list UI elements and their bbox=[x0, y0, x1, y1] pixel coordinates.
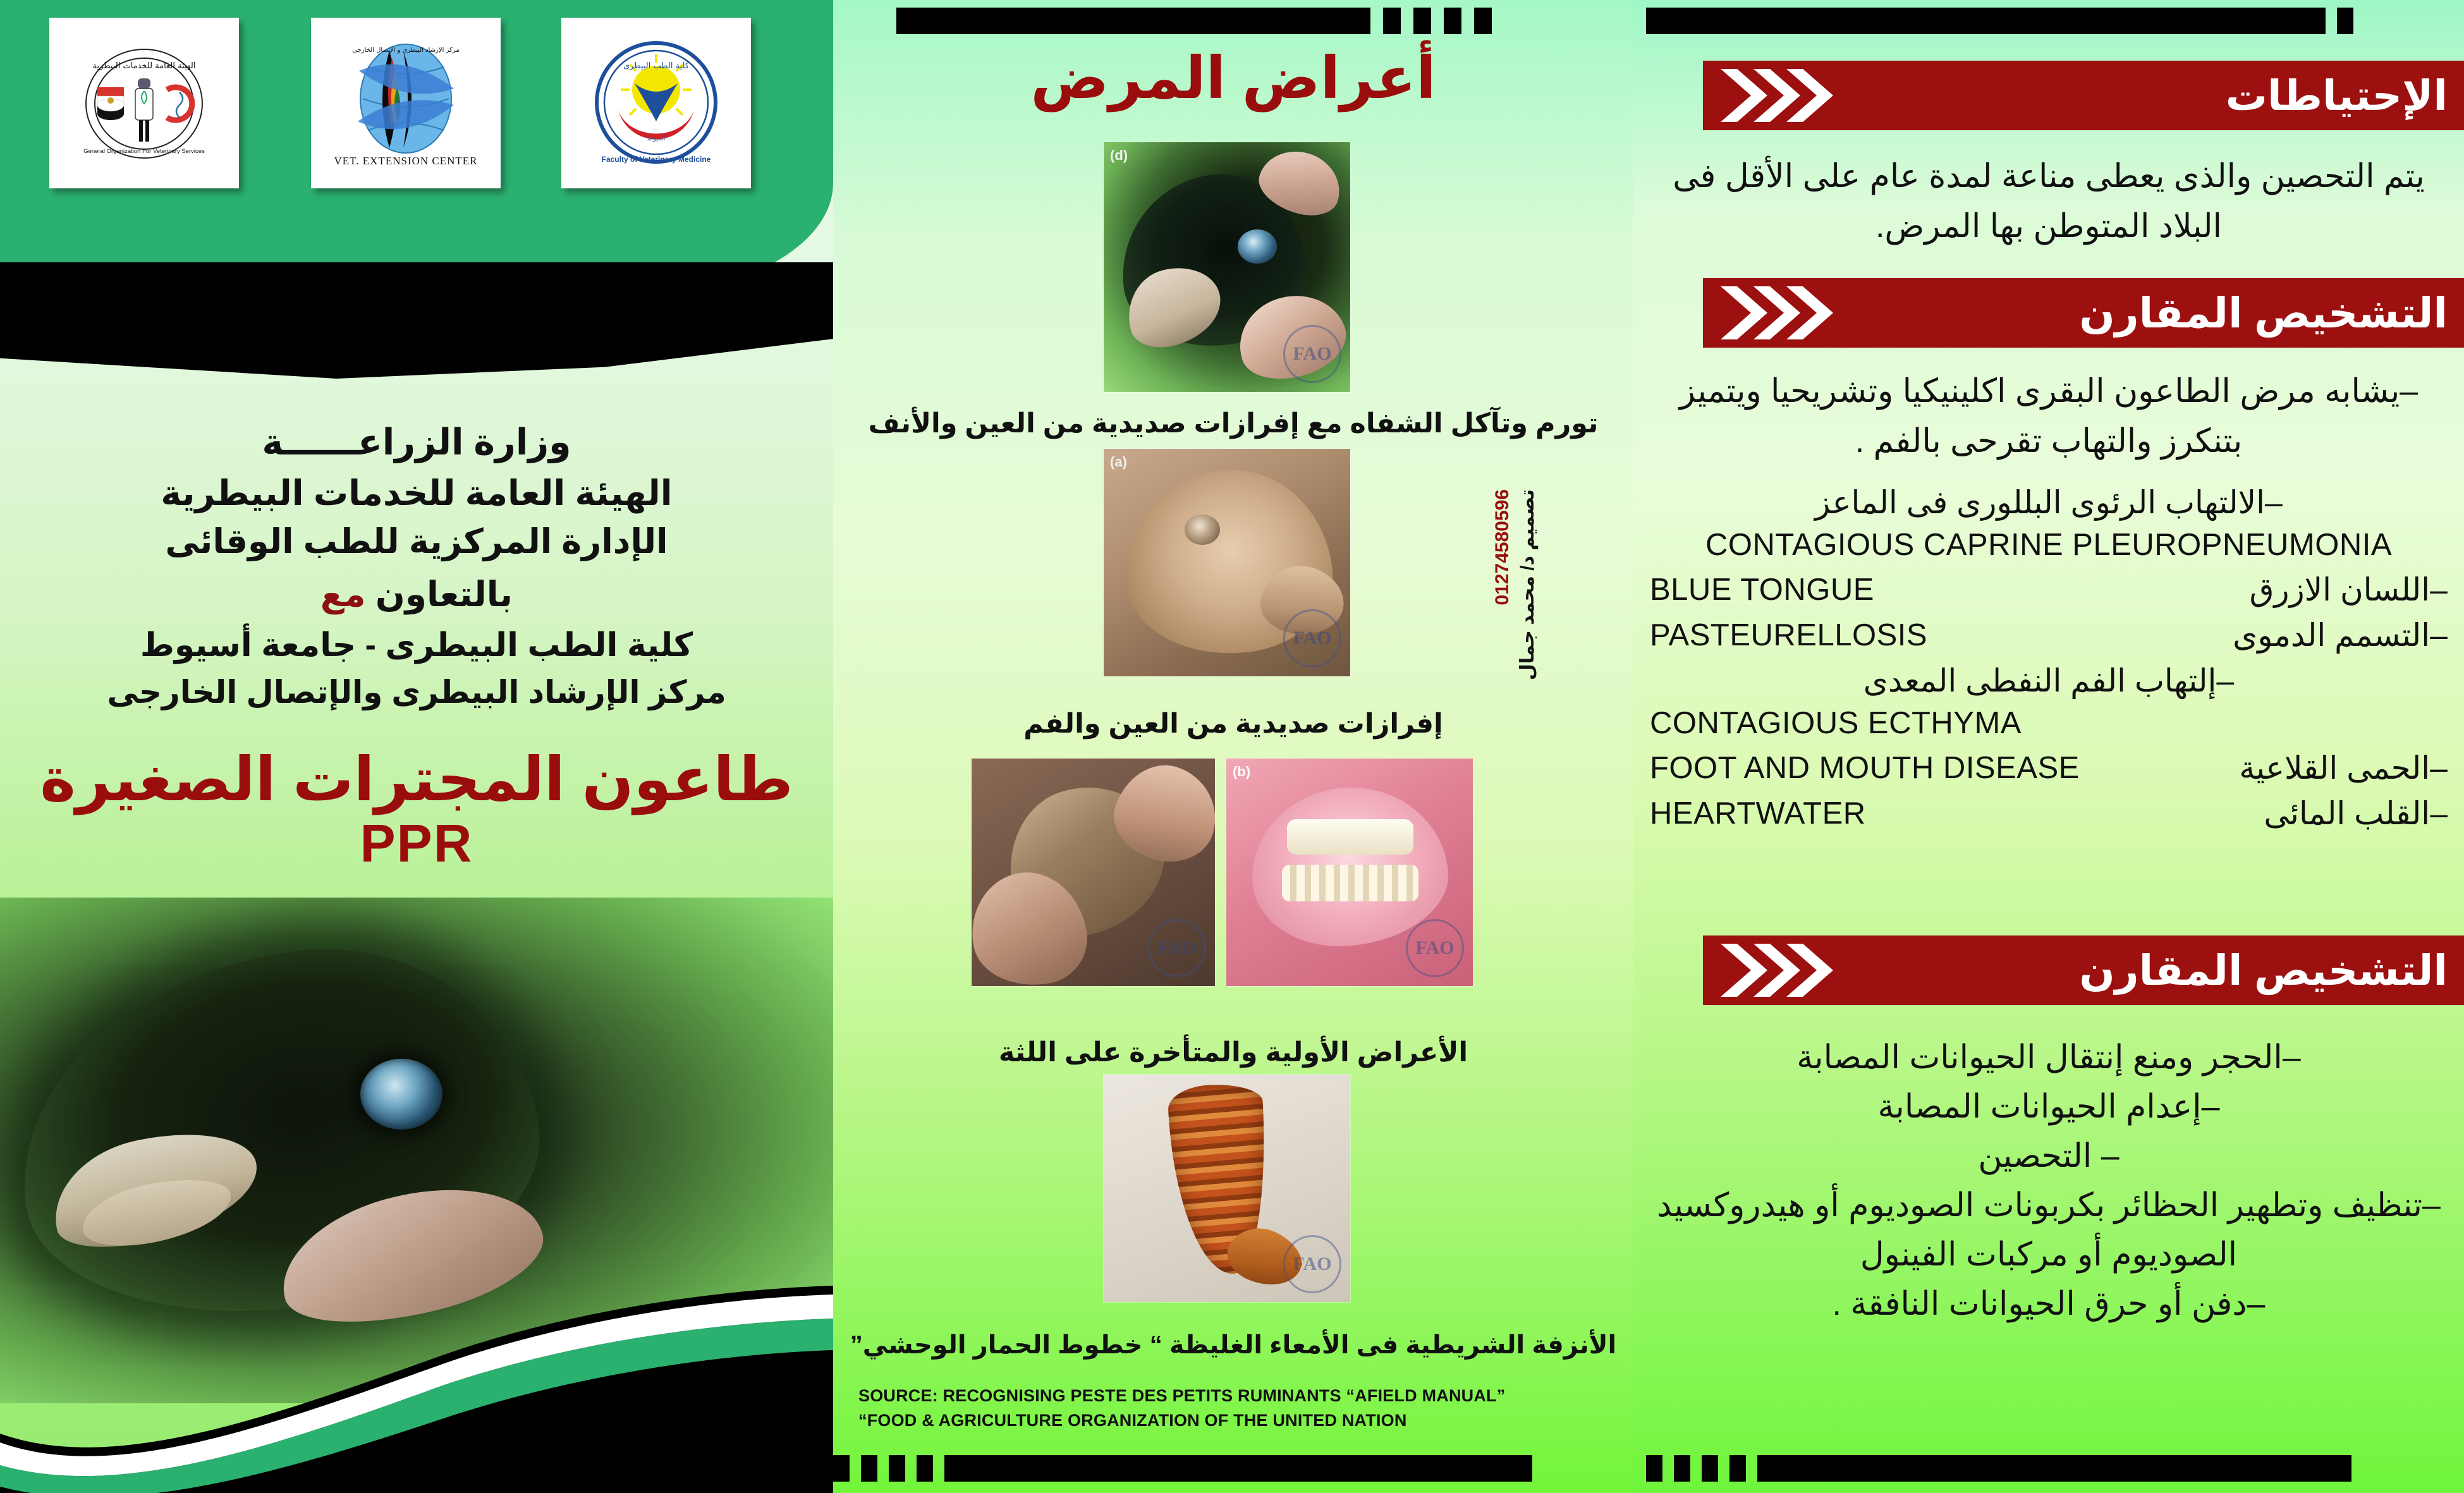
designer-credit: 01274580596 تصميم د/ محمد جمال bbox=[1454, 480, 1542, 689]
photo-2-wrapper: (a) FAO bbox=[1104, 449, 1350, 676]
disease-english: HEARTWATER bbox=[1650, 796, 1866, 831]
section-comparative-diagnosis: التشخيص المقارن –يشابه مرض الطاعون البقر… bbox=[1633, 278, 2464, 832]
cooperation-suffix: مع bbox=[320, 575, 366, 614]
disease-english: FOOT AND MOUTH DISEASE bbox=[1650, 750, 2080, 786]
partner-extension-center: مركز الإرشاد البيطرى والإتصال الخارجى bbox=[0, 669, 833, 716]
disease-row: –الالتهاب الرئوى البللورى فى الماعز CONT… bbox=[1633, 484, 2464, 563]
svg-text:أسيوط: أسيوط bbox=[647, 134, 666, 142]
svg-text:مركز الإرشاد البيطرى و الإتصال: مركز الإرشاد البيطرى و الإتصال الخارجى bbox=[352, 47, 459, 54]
disease-arabic: –اللسان الازرق bbox=[2250, 571, 2448, 608]
caption-photo-4: الأنزفة الشريطية فى الأمعاء الغليظة “ خط… bbox=[833, 1331, 1633, 1360]
photo-swollen-lips: (d) FAO bbox=[1104, 142, 1350, 392]
photo-tag: (d) bbox=[1110, 147, 1128, 164]
photo-4-wrapper: FAO bbox=[1104, 1075, 1350, 1302]
disease-arabic: –الحمى القلاعية bbox=[2239, 750, 2448, 786]
bar-square bbox=[861, 1455, 877, 1482]
right-column: الإحتياطات يتم التحصين والذى يعطى مناعة … bbox=[1633, 0, 2464, 1493]
title-english: PPR bbox=[0, 814, 833, 872]
bar-long bbox=[1757, 1455, 2351, 1482]
section-control-measures: التشخيص المقارن –الحجر ومنع إنتقال الحيو… bbox=[1633, 935, 2464, 1329]
svg-text:General Organization For Veter: General Organization For Veterinary Serv… bbox=[83, 148, 205, 155]
source-line-1: SOURCE: RECOGNISING PESTE DES PETITS RUM… bbox=[858, 1384, 1585, 1408]
caption-photo-1: تورم وتآكل الشفاه مع إفرازات صديدية من ا… bbox=[833, 408, 1633, 439]
chevron-triple-icon bbox=[1714, 66, 1834, 125]
source-line-2: “FOOD & AGRICULTURE ORGANIZATION OF THE … bbox=[858, 1408, 1585, 1432]
center-column: أعراض المرض (d) FAO تورم وتآكل الشفاه مع… bbox=[833, 0, 1633, 1493]
photo-1-wrapper: (d) FAO bbox=[1104, 142, 1350, 392]
disease-arabic: –إلتهاب الفم النفطى المعدى bbox=[1650, 662, 2448, 699]
bar-long bbox=[944, 1455, 1532, 1482]
bar-square bbox=[1413, 8, 1431, 34]
vet-extension-center-logo-icon: مركز الإرشاد البيطرى و الإتصال الخارجى V… bbox=[324, 29, 488, 178]
photo-zebra-stripes-intestine: FAO bbox=[1104, 1075, 1350, 1302]
fao-watermark: FAO bbox=[1283, 1235, 1341, 1293]
photo-early-gum-lesions: FAO bbox=[972, 759, 1215, 986]
bar-square bbox=[1383, 8, 1401, 34]
center-bottom-bar-decoration bbox=[833, 1455, 1532, 1482]
logo-card-faculty-vet-medicine: كلية الطب البيطرى أسيوط Faculty of Veter… bbox=[561, 18, 751, 188]
banner-label: التشخيص المقارن bbox=[2079, 292, 2448, 334]
measure-item: –الحجر ومنع إنتقال الحيوانات المصابة bbox=[1633, 1033, 2464, 1082]
photo-ocular-nasal-discharge: (a) FAO bbox=[1104, 449, 1350, 676]
bar-square bbox=[2337, 8, 2353, 34]
disease-english: CONTAGIOUS ECTHYMA bbox=[1650, 705, 2448, 741]
control-measures-list: –الحجر ومنع إنتقال الحيوانات المصابة –إع… bbox=[1633, 1033, 2464, 1329]
disease-english: PASTEURELLOSIS bbox=[1650, 618, 1927, 653]
partner-faculty: كلية الطب البيطرى - جامعة أسيوط bbox=[0, 622, 833, 669]
symptoms-heading: أعراض المرض bbox=[833, 44, 1633, 112]
designer-phone: 01274580596 bbox=[1492, 489, 1513, 606]
measure-item: –دفن أو حرق الحيوانات النافقة . bbox=[1633, 1279, 2464, 1329]
section-precautions: الإحتياطات يتم التحصين والذى يعطى مناعة … bbox=[1633, 61, 2464, 252]
photo-tag: (a) bbox=[1110, 454, 1127, 470]
disease-row: –القلب المائى HEARTWATER bbox=[1633, 795, 2464, 832]
photo-tag: (b) bbox=[1233, 764, 1250, 780]
banner-comparative-diagnosis-2: التشخيص المقارن bbox=[1703, 935, 2464, 1005]
fao-watermark: FAO bbox=[1283, 609, 1341, 667]
disease-english: BLUE TONGUE bbox=[1650, 572, 1874, 607]
org-line-department: الإدارة المركزية للطب الوقائى bbox=[0, 518, 833, 566]
brochure-title: طاعون المجترات الصغيرة PPR bbox=[0, 746, 833, 872]
bar-square bbox=[1674, 1455, 1690, 1482]
faculty-of-veterinary-medicine-logo-icon: كلية الطب البيطرى أسيوط Faculty of Veter… bbox=[574, 29, 738, 178]
left-panel: الهيئة العامة للخدمات البيطرية General O… bbox=[0, 0, 833, 1493]
banner-precautions: الإحتياطات bbox=[1703, 61, 2464, 130]
banner-label: التشخيص المقارن bbox=[2079, 949, 2448, 991]
precautions-body: يتم التحصين والذى يعطى مناعة لمدة عام عل… bbox=[1633, 152, 2464, 252]
designer-name: تصميم د/ محمد جمال bbox=[1516, 489, 1539, 680]
caption-photo-3: الأعراض الأولية والمتأخرة على اللثة bbox=[833, 1037, 1633, 1068]
svg-text:كلية الطب البيطرى: كلية الطب البيطرى bbox=[623, 61, 690, 71]
svg-text:VET. EXTENSION CENTER: VET. EXTENSION CENTER bbox=[334, 155, 477, 167]
bar-square bbox=[1444, 8, 1461, 34]
org-line-ministry: وزارة الزراعــــــة bbox=[0, 417, 833, 468]
right-bottom-bar-decoration bbox=[1646, 1455, 2351, 1482]
center-top-bar-decoration bbox=[896, 8, 1492, 34]
disease-row: –اللسان الازرق BLUE TONGUE bbox=[1633, 571, 2464, 608]
disease-arabic: –القلب المائى bbox=[2264, 795, 2448, 832]
goat-eye-shape bbox=[360, 1059, 442, 1130]
bar-square bbox=[917, 1455, 933, 1482]
title-arabic: طاعون المجترات الصغيرة bbox=[0, 746, 833, 814]
disease-row: –إلتهاب الفم النفطى المعدى CONTAGIOUS EC… bbox=[1633, 662, 2464, 741]
cooperation-line: بالتعاون مع bbox=[0, 566, 833, 622]
bar-square bbox=[833, 1455, 850, 1482]
svg-text:Faculty of Veterinary Medicine: Faculty of Veterinary Medicine bbox=[602, 155, 711, 164]
disease-arabic: –التسمم الدموى bbox=[2233, 617, 2448, 654]
measure-item: – التحصين bbox=[1633, 1131, 2464, 1181]
veterinary-services-logo-icon: الهيئة العامة للخدمات البيطرية General O… bbox=[62, 29, 226, 178]
necrotic-plaque bbox=[1282, 865, 1418, 901]
disease-list: –الالتهاب الرئوى البللورى فى الماعز CONT… bbox=[1633, 484, 2464, 832]
bar-square bbox=[1702, 1455, 1718, 1482]
bar-square bbox=[1646, 1455, 1662, 1482]
comparative-diagnosis-intro: –يشابه مرض الطاعون البقرى اكلينيكيا وتشر… bbox=[1633, 367, 2464, 466]
right-top-bar-decoration bbox=[1646, 8, 2353, 34]
brochure-page: الهيئة العامة للخدمات البيطرية General O… bbox=[0, 0, 2464, 1493]
measure-item: –إعدام الحيوانات المصابة bbox=[1633, 1082, 2464, 1131]
goat-eye bbox=[1185, 515, 1220, 545]
bar-square bbox=[1729, 1455, 1746, 1482]
fao-watermark: FAO bbox=[1406, 919, 1464, 977]
goat-eye bbox=[1238, 229, 1277, 264]
chevron-triple-icon bbox=[1714, 284, 1834, 342]
photo-3a-wrapper: FAO bbox=[972, 759, 1215, 986]
svg-text:الهيئة العامة للخدمات البيطرية: الهيئة العامة للخدمات البيطرية bbox=[92, 61, 195, 71]
disease-english: CONTAGIOUS CAPRINE PLEUROPNEUMONIA bbox=[1650, 527, 2448, 563]
caption-photo-2: إفرازات صديدية من العين والفم bbox=[833, 708, 1633, 740]
bottom-wave-decoration bbox=[0, 1284, 833, 1493]
measure-item: –تنظيف وتطهير الحظائر بكربونات الصوديوم … bbox=[1633, 1181, 2464, 1279]
banner-label: الإحتياطات bbox=[2226, 75, 2448, 116]
org-line-authority: الهيئة العامة للخدمات البيطرية bbox=[0, 468, 833, 518]
fao-watermark: FAO bbox=[1148, 919, 1206, 977]
disease-row: –التسمم الدموى PASTEURELLOSIS bbox=[1633, 617, 2464, 654]
photo-late-gum-lesions: (b) FAO bbox=[1226, 759, 1473, 986]
logo-card-veterinary-services: الهيئة العامة للخدمات البيطرية General O… bbox=[49, 18, 239, 188]
logo-card-vet-extension-center: مركز الإرشاد البيطرى و الإتصال الخارجى V… bbox=[311, 18, 501, 188]
cooperation-prefix: بالتعاون bbox=[375, 575, 513, 614]
banner-comparative-diagnosis-1: التشخيص المقارن bbox=[1703, 278, 2464, 348]
disease-row: –الحمى القلاعية FOOT AND MOUTH DISEASE bbox=[1633, 750, 2464, 786]
bar-square bbox=[889, 1455, 905, 1482]
bar-square bbox=[1474, 8, 1492, 34]
photo-3b-wrapper: (b) FAO bbox=[1226, 759, 1473, 986]
bar-long bbox=[1646, 8, 2326, 34]
chevron-triple-icon bbox=[1714, 941, 1834, 999]
disease-arabic: –الالتهاب الرئوى البللورى فى الماعز bbox=[1650, 484, 2448, 521]
black-curve-accent bbox=[0, 262, 833, 408]
teeth-row bbox=[1287, 819, 1413, 855]
bar-long bbox=[896, 8, 1370, 34]
organisation-text-block: وزارة الزراعــــــة الهيئة العامة للخدما… bbox=[0, 417, 833, 716]
source-note: SOURCE: RECOGNISING PESTE DES PETITS RUM… bbox=[858, 1384, 1585, 1432]
fao-watermark: FAO bbox=[1283, 325, 1341, 383]
